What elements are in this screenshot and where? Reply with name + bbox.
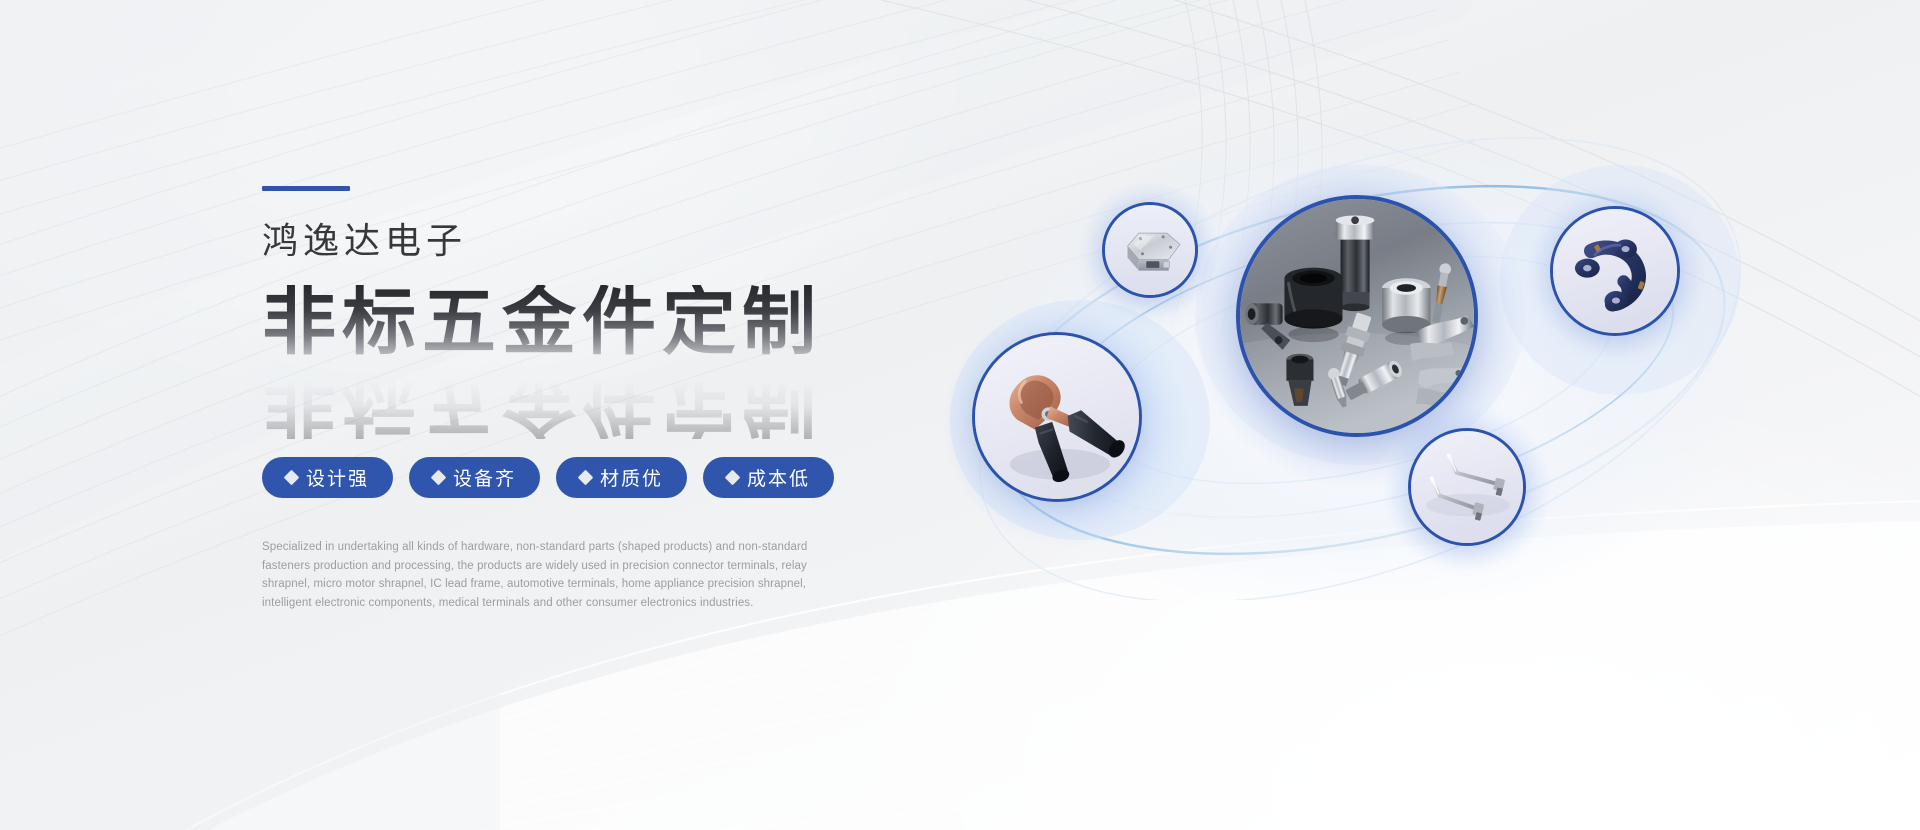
- feature-pill-label: 材质优: [600, 464, 663, 491]
- feature-pill-label: 成本低: [747, 464, 810, 491]
- diamond-icon: [431, 470, 447, 486]
- company-description: Specialized in undertaking all kinds of …: [262, 538, 834, 613]
- headline-block: 非标五金件定制 非标五金件定制: [262, 285, 882, 433]
- feature-pill-material[interactable]: 材质优: [556, 457, 687, 498]
- feature-pill-label: 设计强: [306, 464, 369, 491]
- product-node-retaining-clip[interactable]: [1550, 206, 1680, 336]
- accent-bar: [262, 186, 350, 191]
- diamond-icon: [284, 470, 300, 486]
- metal-shield-enclosure-box-icon: [1105, 205, 1195, 295]
- precision-machined-metal-parts-icon: [1240, 199, 1474, 433]
- copper-battery-clamp-icon: [975, 335, 1139, 499]
- product-showcase: [930, 120, 1790, 600]
- product-node-precision-parts[interactable]: [1236, 195, 1478, 437]
- feature-pill-equipment[interactable]: 设备齐: [409, 457, 540, 498]
- feature-pill-design[interactable]: 设计强: [262, 457, 393, 498]
- diamond-icon: [578, 470, 594, 486]
- feature-pill-list: 设计强 设备齐 材质优 成本低: [262, 457, 882, 498]
- feature-pill-cost[interactable]: 成本低: [703, 457, 834, 498]
- feature-pill-label: 设备齐: [453, 464, 516, 491]
- hero-copy: 鸿逸达电子 非标五金件定制 非标五金件定制 设计强 设备齐 材质优 成本低: [262, 186, 882, 613]
- product-node-shield-box[interactable]: [1102, 202, 1198, 298]
- product-node-terminal-pins[interactable]: [1408, 428, 1526, 546]
- product-node-battery-clamp[interactable]: [972, 332, 1142, 502]
- headline-reflection: 非标五金件定制: [262, 365, 822, 439]
- navy-c-shaped-retaining-clip-icon: [1553, 209, 1677, 333]
- diamond-icon: [725, 470, 741, 486]
- bent-metal-terminal-pins-icon: [1411, 431, 1523, 543]
- page-title: 非标五金件定制: [262, 285, 882, 359]
- hero-banner: 鸿逸达电子 非标五金件定制 非标五金件定制 设计强 设备齐 材质优 成本低: [0, 0, 1920, 830]
- brand-name: 鸿逸达电子: [262, 223, 882, 259]
